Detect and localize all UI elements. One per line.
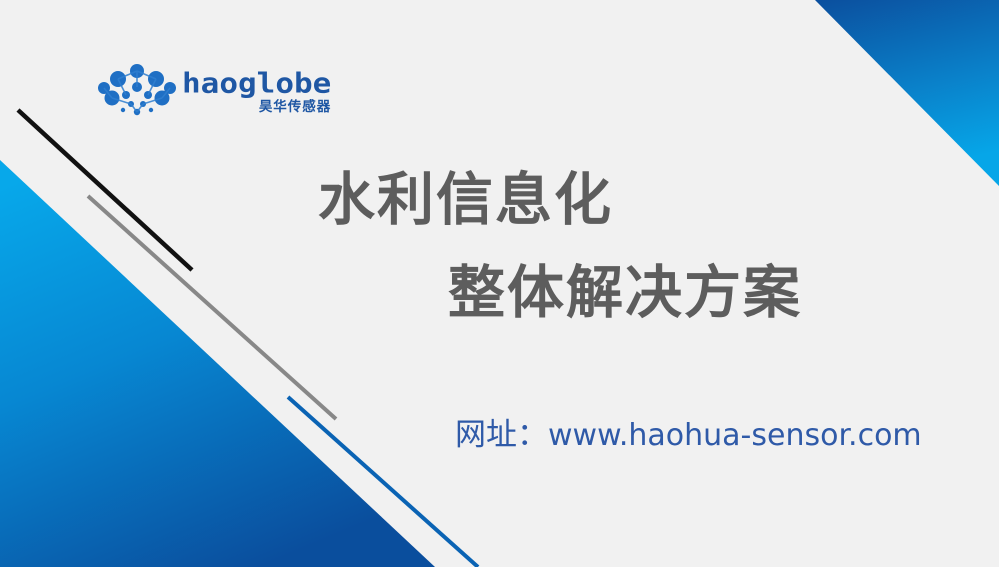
website-label: 网址： bbox=[455, 417, 548, 453]
top-right-triangle bbox=[815, 0, 999, 186]
slide-title-line-1: 水利信息化 bbox=[318, 172, 613, 229]
presentation-slide: haoglobe 昊华传感器 水利信息化 整体解决方案 网址：www.haohu… bbox=[0, 0, 999, 567]
website-line: 网址：www.haohua-sensor.com bbox=[455, 420, 922, 451]
logo-text-group: haoglobe 昊华传感器 bbox=[182, 67, 331, 115]
logo-subtitle: 昊华传感器 bbox=[259, 101, 332, 115]
website-url: www.haohua-sensor.com bbox=[548, 418, 922, 453]
company-logo: haoglobe 昊华传感器 bbox=[98, 58, 328, 124]
haoglobe-dot-cluster-logo-icon bbox=[98, 62, 176, 120]
logo-wordmark: haoglobe bbox=[182, 71, 331, 98]
slide-title-line-2: 整体解决方案 bbox=[448, 265, 802, 322]
